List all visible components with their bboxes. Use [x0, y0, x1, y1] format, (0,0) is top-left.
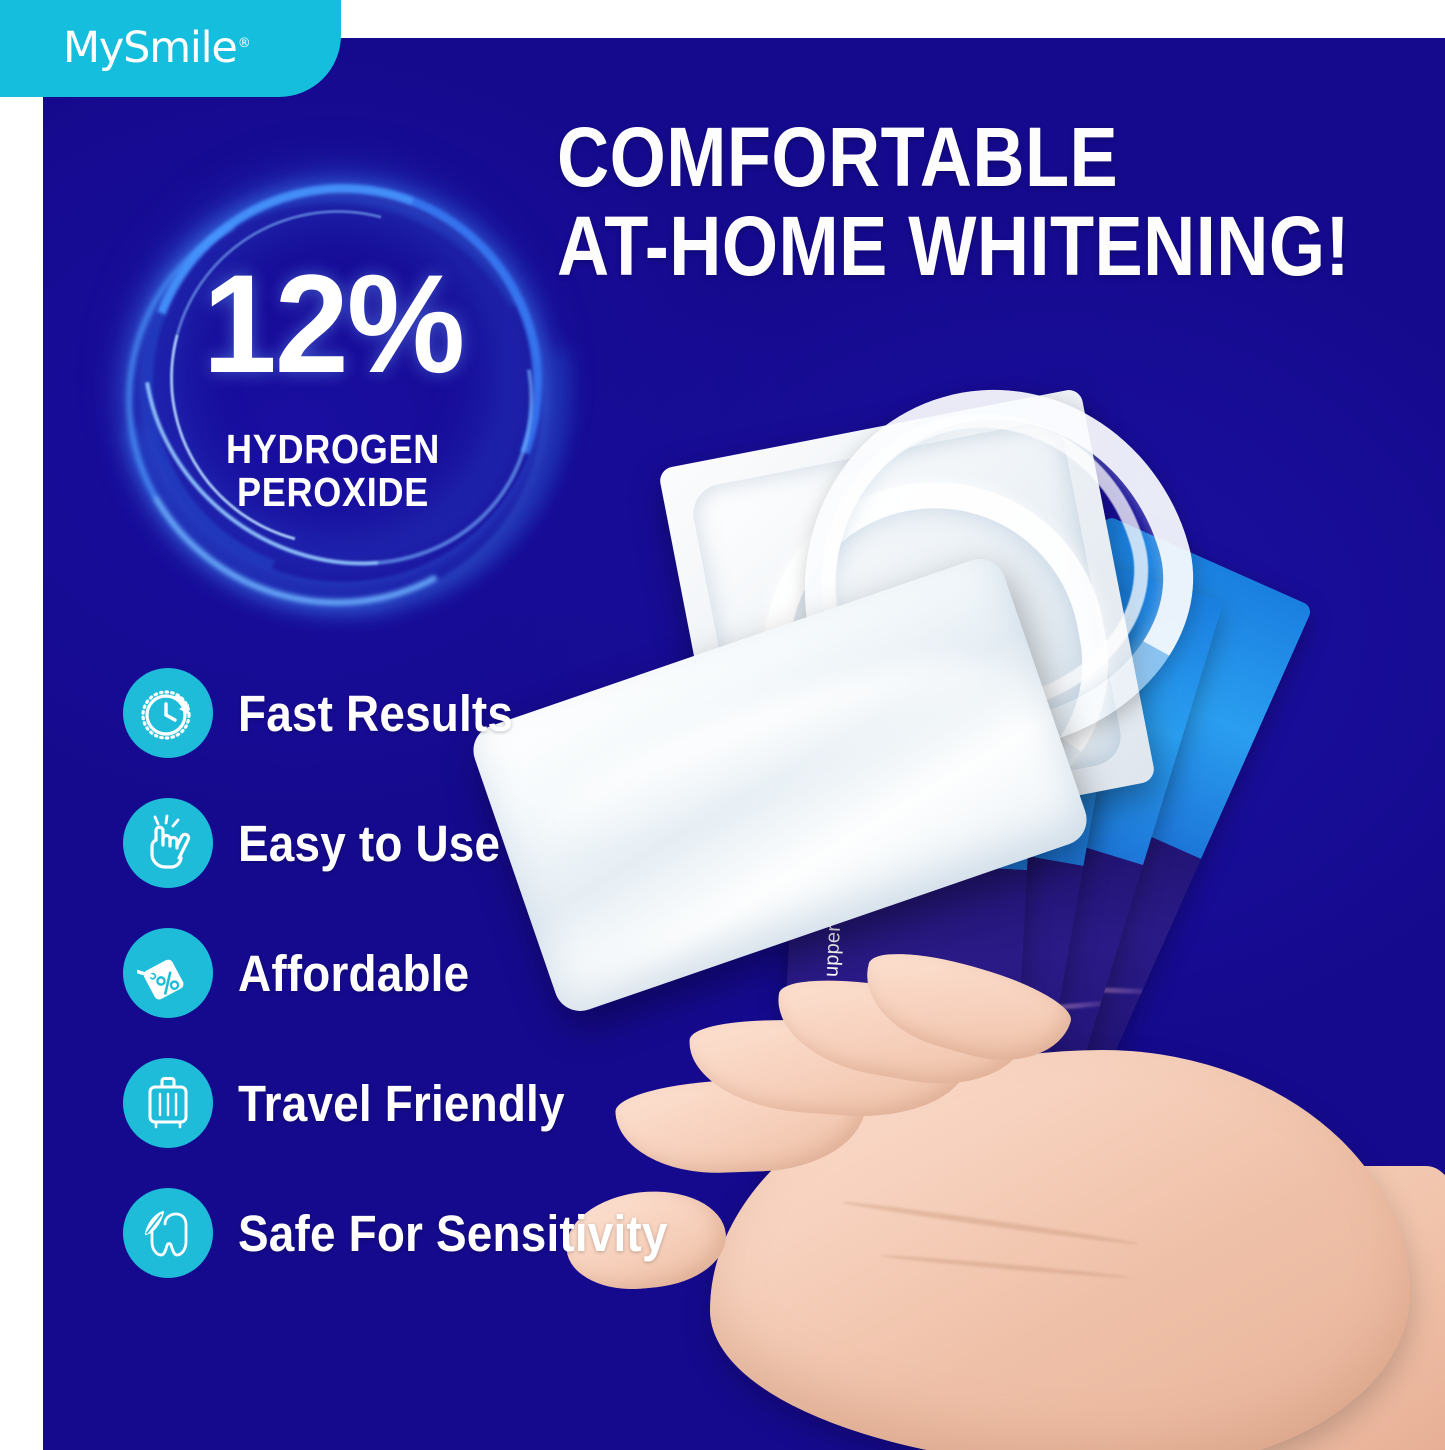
whitening-strip-lower [781, 375, 1179, 754]
product-marketing-poster: 12% HYDROGEN PEROXIDE COMFORTABLE AT-HOM… [0, 0, 1445, 1450]
feather-tooth-icon [123, 1188, 213, 1278]
sachet-lower-body [863, 767, 1201, 1155]
sachet-top-band [927, 535, 1224, 865]
feature-item-safe-for-sensitivity: Safe For Sensitivity [123, 1188, 715, 1278]
feature-item-easy-to-use: Easy to Use [123, 798, 715, 888]
sachet-lower-body [832, 799, 1143, 1175]
sachet-in-just-label: IN JUST [1037, 693, 1117, 728]
clock-arrow-icon [123, 668, 213, 758]
sachet-top-band [995, 515, 1314, 859]
brand-wordmark: MySmile® [63, 27, 251, 70]
wrist [1120, 1166, 1445, 1450]
sachet-days-label: DAYS [1100, 772, 1162, 806]
ingredient-line-2: PEROXIDE [144, 471, 522, 514]
palm [710, 1050, 1410, 1450]
sachet-days-number: 7 [802, 619, 1040, 705]
sachet-days-number: 7 [1060, 553, 1297, 713]
sachet-days-label: DAYS [968, 800, 1028, 828]
light-streak-graphic [776, 1008, 1038, 1107]
feature-label: Safe For Sensitivity [238, 1208, 668, 1259]
feature-label: Easy to Use [238, 818, 500, 869]
sachet-in-just-label: IN JUST [811, 755, 891, 791]
feature-list: Fast Results Easy to Use [123, 668, 715, 1278]
starfield-graphic [863, 767, 1201, 1155]
feature-label: Affordable [238, 948, 469, 999]
sachet-contents-label: 1 upper & 1 lower [869, 804, 919, 966]
page-headline: COMFORTABLE AT-HOME WHITENING! [557, 116, 1314, 288]
price-tag-percent-icon [123, 928, 213, 1018]
light-streak-graphic [880, 980, 1160, 995]
sachet-contents-label: 1 upper & 1 lower [819, 834, 850, 995]
feature-item-fast-results: Fast Results [123, 668, 715, 758]
sachet-days-number: 7 [889, 596, 1124, 708]
starfield-graphic [832, 799, 1143, 1175]
blister-tray [658, 388, 1156, 863]
hydrogen-peroxide-badge: 12% HYDROGEN PEROXIDE [118, 162, 548, 587]
finger-ring [685, 1012, 971, 1123]
palm-crease [880, 1253, 1129, 1280]
sachet-top-band [793, 576, 1041, 869]
sachet-lower-body [776, 857, 1027, 1199]
sachet-packet: 7 IN JUST DAYS [863, 515, 1314, 1155]
light-streak-graphic [840, 999, 1120, 1028]
hand-tap-icon [123, 798, 213, 888]
light-streak-graphic [805, 1002, 1077, 1065]
sachet-top-band [861, 555, 1131, 866]
sachet-in-just-label: IN JUST [888, 738, 966, 765]
feature-item-affordable: Affordable [123, 928, 715, 1018]
sachet-in-just-label: IN JUST [963, 720, 1041, 746]
feature-item-travel-friendly: Travel Friendly [123, 1058, 715, 1148]
brand-name: MySmile [63, 23, 237, 73]
sachet-days-label: DAYS [1035, 790, 1095, 817]
sachet-days-label: DAYS [901, 810, 963, 845]
sachet-one-time-use-label: For one-time use only [913, 973, 946, 1172]
sachet-days-number: 7 [974, 575, 1212, 712]
ingredient-line-1: HYDROGEN [144, 428, 522, 471]
registered-trademark-symbol: ® [238, 36, 251, 51]
sachet-packet: 7 IN JUST DAYS 1 upper & 1 lower For one… [776, 576, 1042, 1199]
navy-background-panel: 12% HYDROGEN PEROXIDE COMFORTABLE AT-HOM… [43, 38, 1445, 1450]
finger-middle [768, 967, 1030, 1099]
whitening-strip-upper [756, 343, 1230, 797]
headline-line-2: AT-HOME WHITENING! [557, 205, 1314, 288]
finger-index [852, 939, 1078, 1080]
feature-label: Fast Results [238, 688, 513, 739]
sachet-packet: 7 IN JUST DAYS [832, 535, 1224, 1175]
peroxide-percentage: 12% [129, 254, 538, 394]
starfield-graphic [776, 857, 1027, 1199]
sachet-packet: 7 IN JUST DAYS 1 upper & 1 lower [805, 555, 1132, 1185]
headline-line-1: COMFORTABLE [557, 116, 1314, 199]
palm-crease [841, 1199, 1139, 1247]
suitcase-icon [123, 1058, 213, 1148]
brand-logo-badge[interactable]: MySmile® [0, 0, 341, 97]
peroxide-ingredient-label: HYDROGEN PEROXIDE [144, 428, 522, 515]
starfield-graphic [805, 827, 1084, 1185]
sachet-lower-body [805, 827, 1084, 1185]
feature-label: Travel Friendly [238, 1078, 565, 1129]
